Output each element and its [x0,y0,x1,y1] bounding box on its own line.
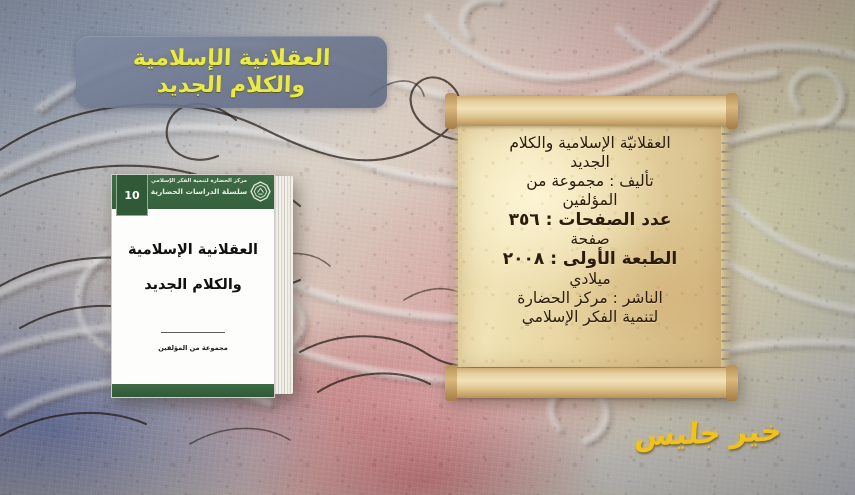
scroll-line: الناشر : مركز الحضارة [517,289,663,308]
center-logo-icon [250,181,271,202]
channel-watermark: خير جليس [633,413,782,452]
title-banner-line1: العقلانية الإسلامية [132,46,330,71]
book-cover-image: 10 مركز الحضارة لتنمية الفكر الإسلامي سل… [111,174,293,396]
scroll-bottom-roll [449,368,734,398]
scroll-top-roll [449,96,734,126]
scroll-top-cap-right [726,93,738,129]
title-banner-line2: والكلام الجديد [157,73,306,98]
scroll-line: لتنمية الفكر الإسلامي [522,308,658,327]
book-footer-band [112,384,274,397]
info-scroll: العقلانيّة الإسلامية والكلام الجديد تألي… [449,96,734,398]
book-header-band: 10 مركز الحضارة لتنمية الفكر الإسلامي سل… [112,175,274,209]
book-publisher-line: مركز الحضارة لتنمية الفكر الإسلامي [150,178,248,185]
scroll-text-block: العقلانيّة الإسلامية والكلام الجديد تألي… [463,126,717,365]
scroll-line: الجديد [570,153,610,172]
book-cover-body: العقلانية الإسلامية والكلام الجديد مجموع… [112,209,274,397]
book-divider-rule [161,332,225,333]
scroll-line: تأليف : مجموعة من [526,172,653,191]
book-title-line2: والكلام الجديد [144,278,242,293]
scroll-left-ragged-edge [451,124,462,367]
book-series-line: سلسلة الدراسات الحضارية [150,187,248,197]
book-header-text: مركز الحضارة لتنمية الفكر الإسلامي سلسلة… [150,178,248,197]
book-title-line1: العقلانية الإسلامية [128,243,258,258]
scroll-line: صفحة [570,230,609,249]
scroll-line: ميلادي [569,270,610,289]
book-author: مجموعة من المؤلفين [158,344,228,352]
book-series-number: 10 [116,174,148,216]
book-front-cover: 10 مركز الحضارة لتنمية الفكر الإسلامي سل… [111,174,275,398]
scroll-line: المؤلفين [562,191,617,210]
scroll-right-ragged-edge [721,124,732,367]
scroll-line-edition: الطبعة الأولى : ٢٠٠٨ [503,249,677,270]
scroll-top-cap-left [445,93,457,129]
scroll-bottom-cap-right [726,365,738,401]
scroll-line-pages: عدد الصفحات : ٣٥٦ [509,210,672,231]
scroll-line: العقلانيّة الإسلامية والكلام [509,134,670,153]
video-frame: العقلانية الإسلامية والكلام الجديد 10 مر… [0,0,855,495]
scroll-bottom-cap-left [445,365,457,401]
title-banner: العقلانية الإسلامية والكلام الجديد [76,36,387,108]
